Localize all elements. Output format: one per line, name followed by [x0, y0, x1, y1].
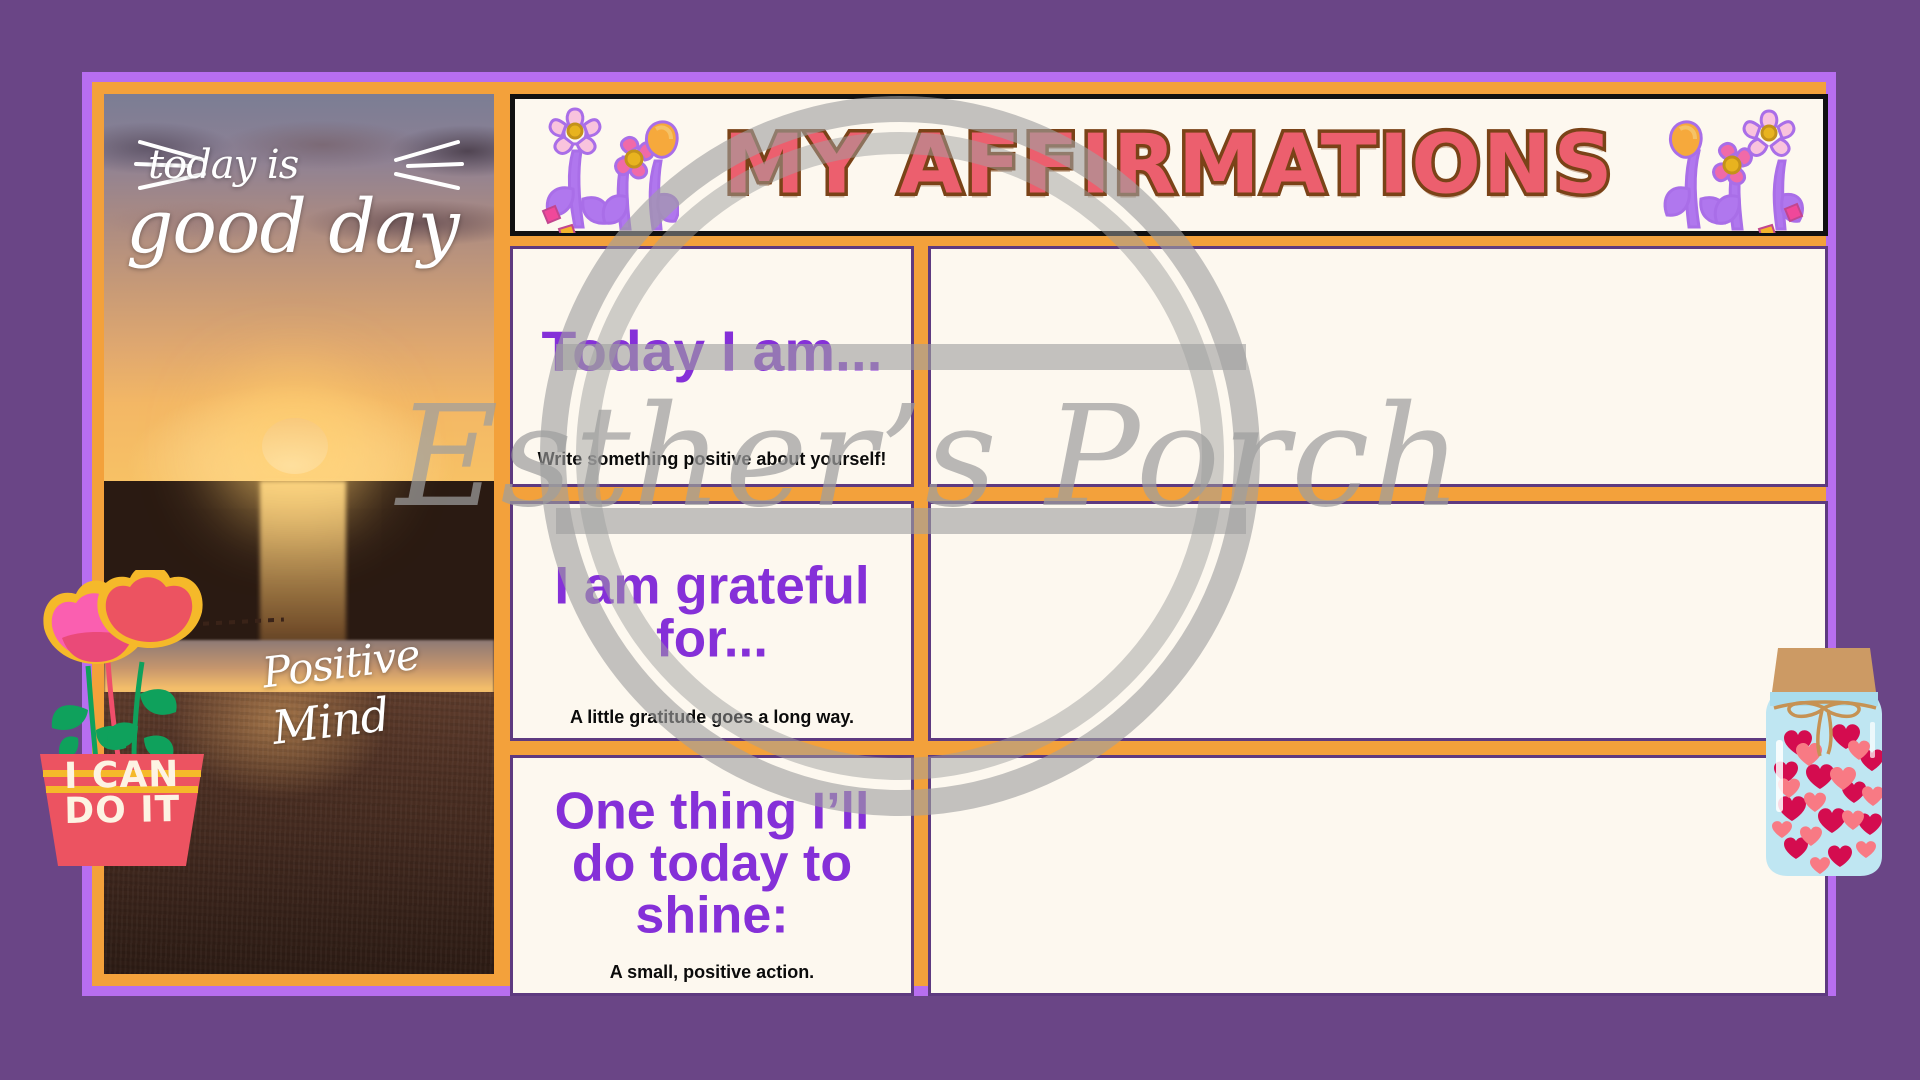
- prompt-label-1: Today I am...: [521, 324, 903, 381]
- prompt-hint-3: A small, positive action.: [519, 962, 905, 983]
- affirmation-grid: Today I am... Write something positive a…: [510, 246, 1828, 996]
- prompt-cell-3: One thing I’ll do today to shine: A smal…: [510, 755, 914, 996]
- prompt-label-2: I am grateful for...: [521, 560, 903, 666]
- worksheet-inner: today is good day Positive Mind: [104, 94, 1814, 974]
- pot-label-line1: I CAN: [21, 756, 222, 795]
- answer-field-3[interactable]: [928, 755, 1828, 996]
- header-banner: MY AFFIRMATIONS: [510, 94, 1828, 236]
- prompt-label-3: One thing I’ll do today to shine:: [521, 785, 903, 941]
- answer-field-1[interactable]: [928, 246, 1828, 487]
- prompt-cell-2: I am grateful for... A little gratitude …: [510, 501, 914, 742]
- orange-frame: today is good day Positive Mind: [92, 82, 1826, 986]
- photo-caption-good-day: good day: [126, 184, 459, 270]
- photo-caption-today-is: today is: [148, 142, 298, 188]
- sun-icon: [262, 418, 328, 474]
- prompt-cell-1: Today I am... Write something positive a…: [510, 246, 914, 487]
- worksheet-frame: today is good day Positive Mind: [82, 72, 1836, 996]
- flower-pot-icon: I CAN DO IT: [22, 570, 222, 870]
- pot-label: I CAN DO IT: [21, 756, 222, 830]
- heart-jar-icon: [1744, 640, 1904, 880]
- page-title: MY AFFIRMATIONS: [515, 118, 1823, 213]
- flower-cluster-icon: [1659, 103, 1809, 233]
- answer-field-2[interactable]: [928, 501, 1828, 742]
- pot-label-line2: DO IT: [22, 792, 223, 831]
- prompt-hint-1: Write something positive about yourself!: [519, 449, 905, 470]
- prompt-hint-2: A little gratitude goes a long way.: [519, 707, 905, 728]
